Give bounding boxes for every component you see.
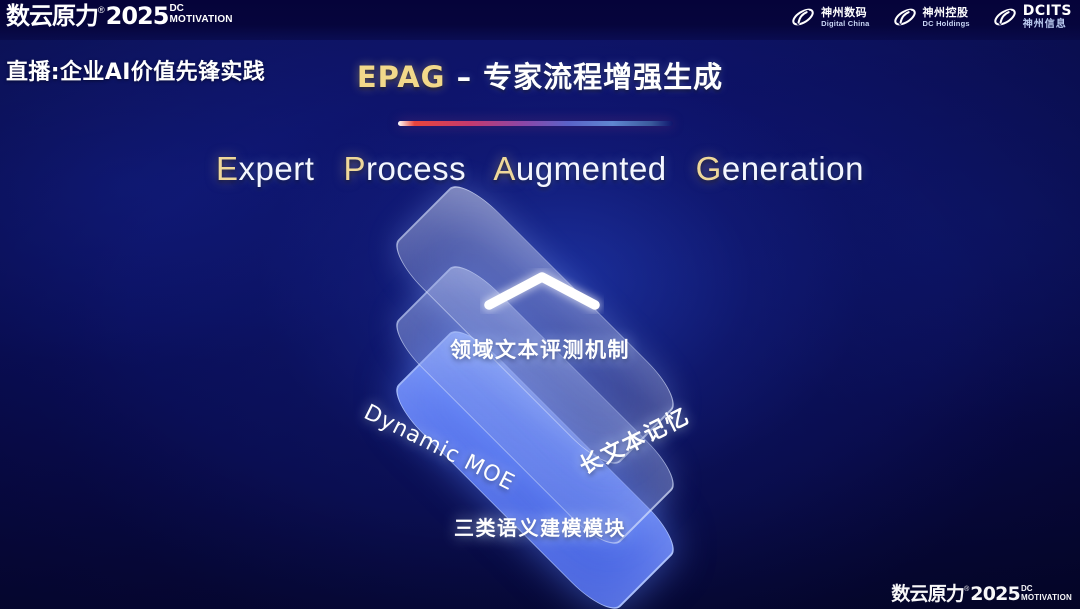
chevron-up-icon [480, 268, 604, 314]
brand-year: 2025 [106, 2, 169, 30]
page-title-separator: – [445, 60, 483, 94]
stack-label-top: 领域文本评测机制 [0, 334, 1080, 364]
subtitle-space [676, 150, 686, 187]
gradient-divider [398, 121, 673, 126]
page-title-chinese: 专家流程增强生成 [483, 60, 723, 94]
brand-logo: 数云原力 ® 2025 DC MOTIVATION [6, 2, 233, 30]
subtitle-word-expert: Expert [216, 150, 314, 187]
subtitle-word-augmented: Augmented [493, 150, 666, 187]
watermark-registered-mark: ® [964, 585, 969, 594]
watermark-sub-top: DC [1021, 585, 1072, 593]
subtitle-rest: rocess [366, 150, 466, 187]
live-stream-title: 直播:企业AI价值先锋实践 [6, 54, 265, 86]
page-title-acronym: EPAG [357, 60, 446, 94]
subtitle-space [476, 150, 486, 187]
watermark-name-cn: 数云原力 [891, 583, 964, 605]
watermark-logo: 数云原力 ® 2025 DC MOTIVATION [891, 583, 1072, 605]
partner-logo-digital-china: 神州数码 Digital China [790, 4, 869, 30]
brand-sub-bottom: MOTIVATION [169, 14, 232, 25]
partner-name-cn: 神州控股 [923, 7, 970, 18]
subtitle-cap: G [696, 150, 722, 187]
brand-name-cn: 数云原力 [6, 2, 98, 30]
swirl-logo-icon [790, 4, 816, 30]
watermark-sub-bottom: MOTIVATION [1021, 593, 1072, 602]
partner-text: 神州数码 Digital China [821, 7, 869, 28]
partner-logo-dc-holdings: 神州控股 DC Holdings [892, 4, 970, 30]
partner-name-en: 神州信息 [1023, 20, 1072, 30]
subtitle-rest: eneration [722, 150, 864, 187]
swirl-logo-icon [992, 4, 1018, 30]
subtitle-space [324, 150, 334, 187]
subtitle-rest: ugmented [516, 150, 667, 187]
brand-registered-mark: ® [98, 4, 105, 16]
swirl-logo-icon [892, 4, 918, 30]
subtitle-cap: E [216, 150, 239, 187]
partner-name-en: DC Holdings [923, 20, 970, 28]
page-subtitle: Expert Process Augmented Generation [0, 150, 1080, 188]
partner-name-cn: DCITS [1023, 4, 1072, 18]
subtitle-cap: P [343, 150, 366, 187]
brand-sub-stack: DC MOTIVATION [169, 4, 232, 25]
stack-label-bottom: 三类语义建模模块 [0, 512, 1080, 541]
subtitle-word-process: Process [343, 150, 466, 187]
partner-name-cn: 神州数码 [821, 7, 869, 18]
partner-logo-dcits: DCITS 神州信息 [992, 4, 1072, 30]
subtitle-word-generation: Generation [696, 150, 864, 187]
partner-logo-group: 神州数码 Digital China 神州控股 DC Holdings DCIT… [790, 4, 1072, 30]
watermark-sub-stack: DC MOTIVATION [1021, 585, 1072, 602]
partner-name-en: Digital China [821, 20, 869, 28]
brand-sub-top: DC [169, 4, 232, 14]
watermark-year: 2025 [970, 583, 1020, 605]
subtitle-cap: A [493, 150, 516, 187]
subtitle-rest: xpert [239, 150, 315, 187]
partner-text: 神州控股 DC Holdings [923, 7, 970, 28]
partner-text: DCITS 神州信息 [1023, 4, 1072, 30]
